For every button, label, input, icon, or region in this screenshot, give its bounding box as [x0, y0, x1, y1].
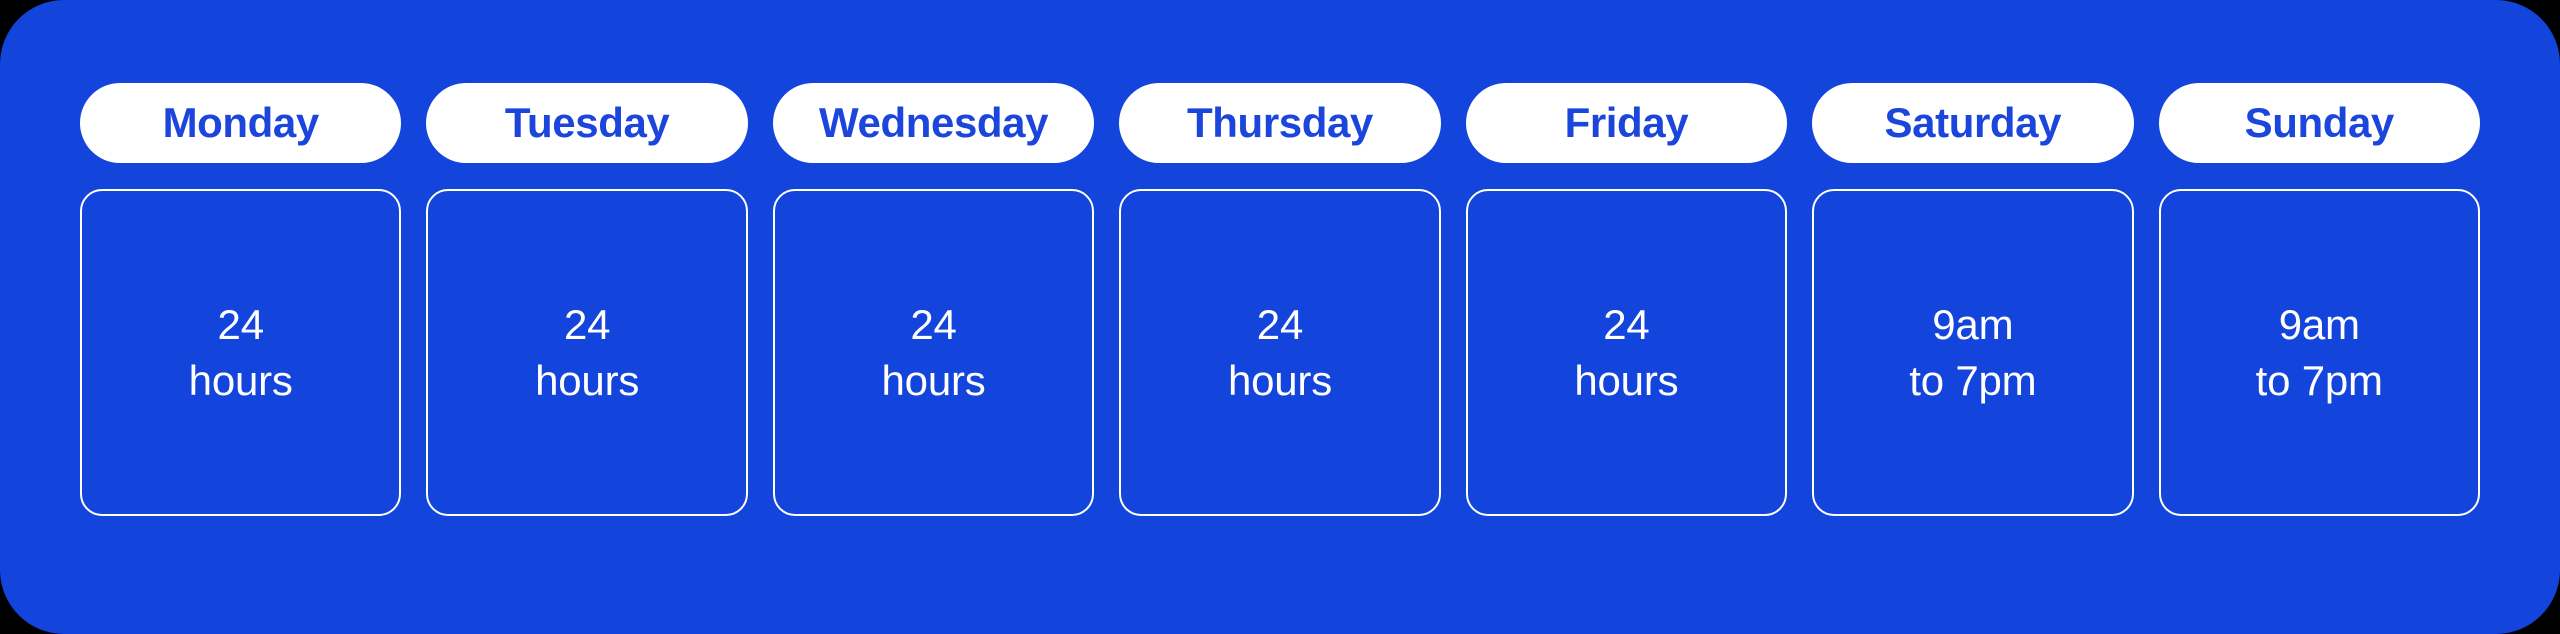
- day-column-monday: Monday 24 hours: [80, 83, 401, 516]
- hours-text-monday: 24 hours: [189, 297, 293, 408]
- day-label-friday: Friday: [1565, 102, 1689, 144]
- day-label-thursday: Thursday: [1187, 102, 1373, 144]
- hours-card-thursday: 24 hours: [1119, 189, 1440, 516]
- hours-card-friday: 24 hours: [1466, 189, 1787, 516]
- day-pill-friday[interactable]: Friday: [1466, 83, 1787, 163]
- hours-text-sunday: 9am to 7pm: [2256, 297, 2383, 408]
- hours-card-sunday: 9am to 7pm: [2159, 189, 2480, 516]
- hours-card-monday: 24 hours: [80, 189, 401, 516]
- hours-text-friday: 24 hours: [1574, 297, 1678, 408]
- day-label-saturday: Saturday: [1885, 102, 2062, 144]
- hours-card-saturday: 9am to 7pm: [1812, 189, 2133, 516]
- day-label-monday: Monday: [163, 102, 319, 144]
- hours-card-wednesday: 24 hours: [773, 189, 1094, 516]
- day-column-friday: Friday 24 hours: [1466, 83, 1787, 516]
- opening-hours-panel: Monday 24 hours Tuesday 24 hours Wednesd…: [0, 0, 2560, 634]
- day-pill-wednesday[interactable]: Wednesday: [773, 83, 1094, 163]
- day-column-tuesday: Tuesday 24 hours: [426, 83, 747, 516]
- hours-text-tuesday: 24 hours: [535, 297, 639, 408]
- days-row: Monday 24 hours Tuesday 24 hours Wednesd…: [80, 83, 2480, 516]
- hours-text-saturday: 9am to 7pm: [1909, 297, 2036, 408]
- day-pill-monday[interactable]: Monday: [80, 83, 401, 163]
- day-pill-thursday[interactable]: Thursday: [1119, 83, 1440, 163]
- day-column-thursday: Thursday 24 hours: [1119, 83, 1440, 516]
- day-column-wednesday: Wednesday 24 hours: [773, 83, 1094, 516]
- day-label-tuesday: Tuesday: [505, 102, 669, 144]
- day-label-wednesday: Wednesday: [819, 102, 1048, 144]
- day-pill-sunday[interactable]: Sunday: [2159, 83, 2480, 163]
- day-column-saturday: Saturday 9am to 7pm: [1812, 83, 2133, 516]
- day-pill-tuesday[interactable]: Tuesday: [426, 83, 747, 163]
- day-column-sunday: Sunday 9am to 7pm: [2159, 83, 2480, 516]
- day-label-sunday: Sunday: [2245, 102, 2394, 144]
- day-pill-saturday[interactable]: Saturday: [1812, 83, 2133, 163]
- hours-text-wednesday: 24 hours: [882, 297, 986, 408]
- hours-text-thursday: 24 hours: [1228, 297, 1332, 408]
- hours-card-tuesday: 24 hours: [426, 189, 747, 516]
